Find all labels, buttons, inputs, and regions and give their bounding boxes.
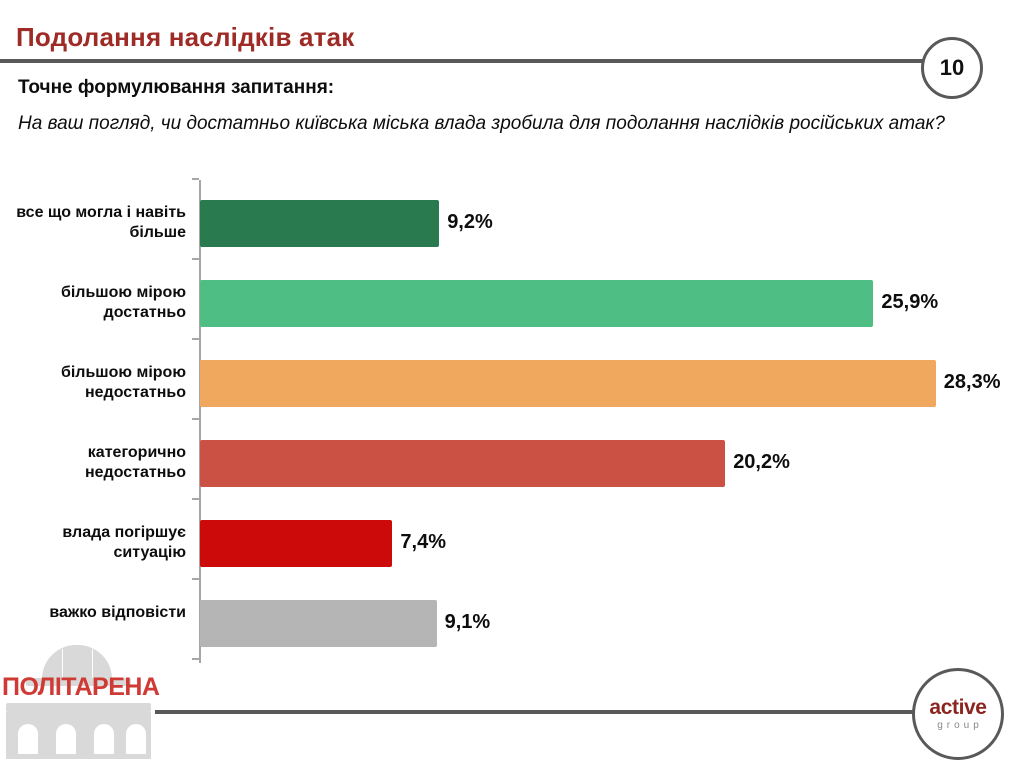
bar-value-label: 28,3% (944, 371, 1001, 394)
bar (200, 200, 439, 247)
axis-tick (192, 418, 199, 420)
axis-tick (192, 258, 199, 260)
politarena-wordmark: ПОЛІТАРЕНА (2, 673, 160, 702)
page-title: Подолання наслідків атак (16, 22, 355, 53)
active-group-name: active (929, 697, 986, 718)
politarena-logo: ПОЛІТАРЕНА (0, 645, 160, 759)
footer-divider (155, 710, 918, 714)
bar-value-label: 9,2% (447, 211, 493, 234)
bar-value-label: 7,4% (400, 531, 446, 554)
logo-cornice-icon (6, 703, 151, 712)
question-label: Точне формулювання запитання: (18, 77, 334, 99)
axis-tick (192, 658, 199, 660)
logo-arch-icon (126, 724, 146, 754)
category-label: все що могла і навіть більше (0, 203, 186, 244)
bar-value-label: 25,9% (881, 291, 938, 314)
bar-value-label: 20,2% (733, 451, 790, 474)
page-number-badge: 10 (921, 37, 983, 99)
axis-tick (192, 338, 199, 340)
chart-category-axis (199, 180, 201, 663)
category-label: влада погіршує ситуацію (0, 523, 186, 564)
bar (200, 520, 392, 567)
bar (200, 600, 437, 647)
logo-arch-icon (56, 724, 76, 754)
header-divider (0, 59, 940, 63)
logo-base-icon (6, 754, 151, 759)
logo-colonnade-icon (6, 712, 151, 754)
bar (200, 280, 873, 327)
axis-tick (192, 578, 199, 580)
category-label: більшою мірою достатньо (0, 283, 186, 324)
question-text: На ваш погляд, чи достатньо київська міс… (18, 110, 948, 138)
bar (200, 440, 725, 487)
category-label: більшою мірою недостатньо (0, 363, 186, 404)
category-label: категорично недостатньо (0, 443, 186, 484)
logo-arch-icon (94, 724, 114, 754)
active-group-subtitle: group (933, 721, 983, 731)
bar (200, 360, 936, 407)
logo-arch-icon (18, 724, 38, 754)
active-group-logo: active group (912, 668, 1004, 760)
category-label: важко відповісти (0, 603, 186, 623)
axis-tick (192, 178, 199, 180)
bar-value-label: 9,1% (445, 611, 491, 634)
bar-chart: все що могла і навіть більше9,2%більшою … (0, 180, 1024, 665)
axis-tick (192, 498, 199, 500)
